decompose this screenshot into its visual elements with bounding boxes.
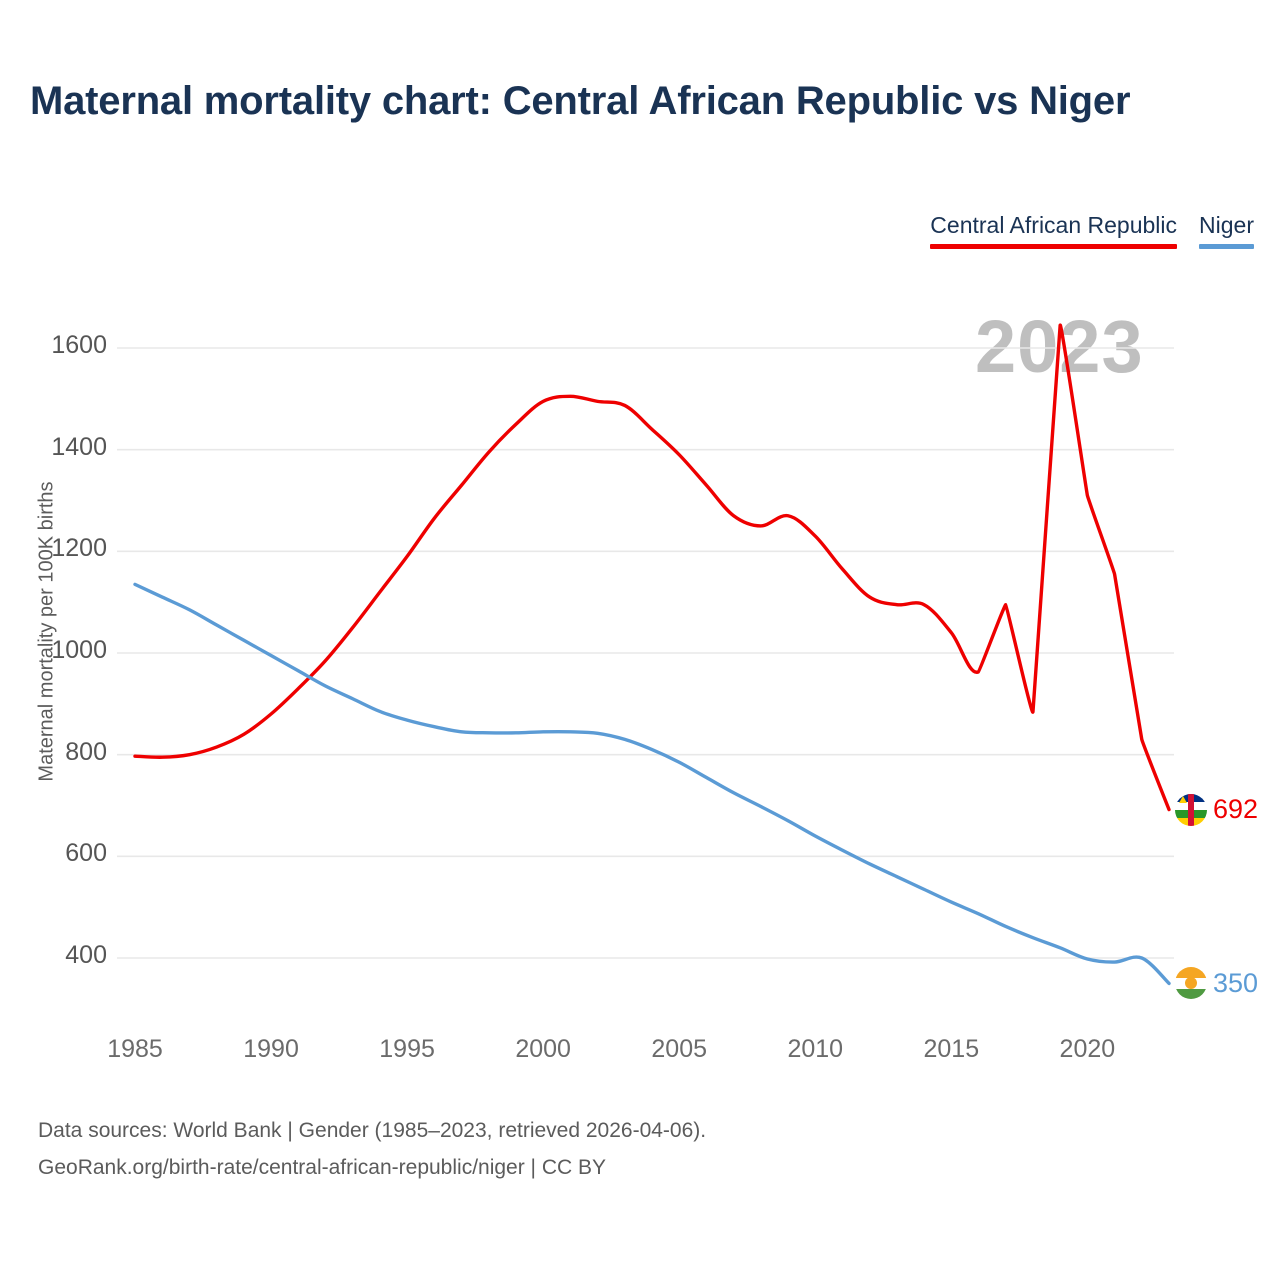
footer-line-1: Data sources: World Bank | Gender (1985–… [38,1113,706,1150]
x-tick-label: 2000 [493,1035,593,1064]
x-tick-label: 2005 [629,1035,729,1064]
niger-flag-icon [1175,967,1207,999]
x-tick-label: 2020 [1037,1035,1137,1064]
end-label-central-african-republic: 692 [1175,794,1258,826]
gridlines [117,348,1174,958]
y-tick-label: 600 [17,839,107,868]
x-tick-label: 2015 [901,1035,1001,1064]
central-african-republic-flag-icon [1175,794,1207,826]
y-tick-label: 1000 [17,636,107,665]
x-tick-label: 1985 [85,1035,185,1064]
x-tick-label: 2010 [765,1035,865,1064]
x-tick-label: 1995 [357,1035,457,1064]
end-value-niger: 350 [1213,970,1258,997]
footer-line-2: GeoRank.org/birth-rate/central-african-r… [38,1150,706,1187]
end-value-central-african-republic: 692 [1213,796,1258,823]
series-lines [135,325,1169,983]
series-line-central-african-republic [135,325,1169,810]
x-tick-label: 1990 [221,1035,321,1064]
chart-svg [0,0,1280,1280]
footer-sources: Data sources: World Bank | Gender (1985–… [38,1113,706,1187]
y-tick-label: 400 [17,941,107,970]
y-tick-label: 1600 [17,331,107,360]
chart-page: Maternal mortality chart: Central Africa… [0,0,1280,1280]
y-tick-label: 800 [17,738,107,767]
end-label-niger: 350 [1175,967,1258,999]
plot-area: Maternal mortality per 100K births 2023 … [0,0,1280,1280]
y-tick-label: 1400 [17,433,107,462]
y-tick-label: 1200 [17,534,107,563]
